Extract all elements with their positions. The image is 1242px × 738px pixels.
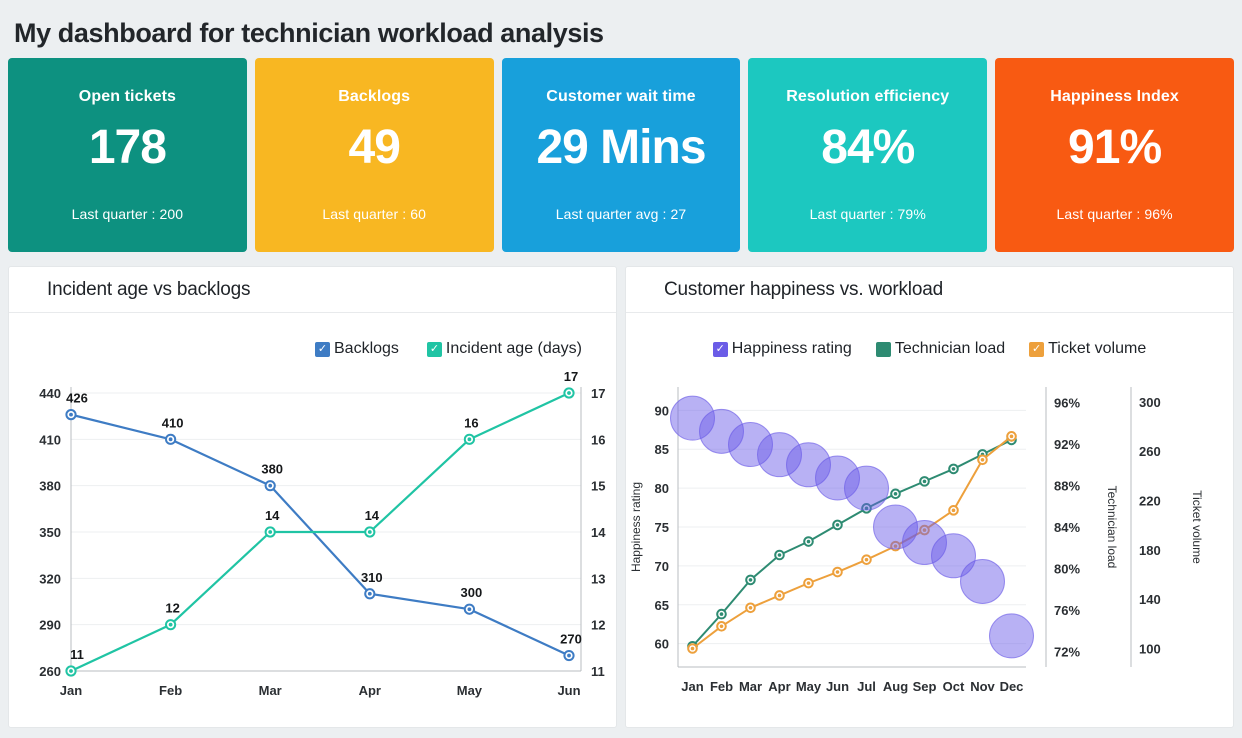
svg-text:14: 14 bbox=[365, 508, 380, 523]
svg-text:76%: 76% bbox=[1054, 603, 1080, 618]
svg-text:16: 16 bbox=[464, 415, 478, 430]
legend-item-backlogs[interactable]: ✓ Backlogs bbox=[315, 340, 399, 358]
kpi-label: Happiness Index bbox=[1050, 88, 1179, 106]
checkbox-icon[interactable]: ✓ bbox=[713, 342, 728, 357]
svg-text:Jun: Jun bbox=[826, 679, 849, 694]
svg-text:Apr: Apr bbox=[359, 683, 381, 698]
svg-text:Nov: Nov bbox=[970, 679, 995, 694]
panel-header-left: Incident age vs backlogs bbox=[9, 267, 616, 313]
legend-left: ✓ Backlogs ✓ Incident age (days) bbox=[9, 327, 616, 371]
panel-header-right: Customer happiness vs. workload bbox=[626, 267, 1233, 313]
plot-area-left: 26029032035038041044011121314151617JanFe… bbox=[9, 371, 616, 727]
kpi-subtext: Last quarter : 200 bbox=[72, 206, 184, 222]
svg-text:Mar: Mar bbox=[259, 683, 282, 698]
svg-text:220: 220 bbox=[1139, 493, 1161, 508]
svg-text:426: 426 bbox=[66, 391, 88, 406]
svg-text:300: 300 bbox=[461, 585, 483, 600]
kpi-card-resolution-efficiency[interactable]: Resolution efficiency 84% Last quarter :… bbox=[748, 58, 987, 252]
kpi-value: 49 bbox=[349, 124, 400, 172]
svg-text:Oct: Oct bbox=[943, 679, 965, 694]
legend-item-ticket-volume[interactable]: ✓ Ticket volume bbox=[1029, 340, 1146, 358]
svg-text:380: 380 bbox=[39, 479, 61, 494]
svg-text:380: 380 bbox=[261, 462, 283, 477]
svg-text:Jun: Jun bbox=[557, 683, 580, 698]
svg-text:13: 13 bbox=[591, 571, 605, 586]
dashboard-page: My dashboard for technician workload ana… bbox=[0, 0, 1242, 738]
svg-text:65: 65 bbox=[655, 598, 669, 613]
kpi-label: Resolution efficiency bbox=[786, 88, 949, 106]
svg-text:90: 90 bbox=[655, 403, 669, 418]
svg-text:70: 70 bbox=[655, 559, 669, 574]
kpi-subtext: Last quarter : 60 bbox=[322, 206, 426, 222]
svg-text:Mar: Mar bbox=[739, 679, 762, 694]
svg-text:100: 100 bbox=[1139, 641, 1161, 656]
checkbox-icon[interactable]: ✓ bbox=[427, 342, 442, 357]
svg-text:Dec: Dec bbox=[1000, 679, 1024, 694]
legend-label: Ticket volume bbox=[1048, 340, 1146, 358]
svg-text:92%: 92% bbox=[1054, 437, 1080, 452]
svg-text:410: 410 bbox=[162, 415, 184, 430]
kpi-card-open-tickets[interactable]: Open tickets 178 Last quarter : 200 bbox=[8, 58, 247, 252]
legend-item-happiness-rating[interactable]: ✓ Happiness rating bbox=[713, 340, 852, 358]
svg-text:12: 12 bbox=[165, 601, 179, 616]
svg-text:320: 320 bbox=[39, 571, 61, 586]
legend-label: Incident age (days) bbox=[446, 340, 582, 358]
checkbox-icon[interactable]: ✓ bbox=[315, 342, 330, 357]
svg-text:17: 17 bbox=[591, 386, 605, 401]
svg-text:Aug: Aug bbox=[883, 679, 908, 694]
svg-text:Technician load: Technician load bbox=[1105, 486, 1119, 569]
panel-title-right: Customer happiness vs. workload bbox=[664, 279, 943, 301]
kpi-value: 178 bbox=[89, 124, 166, 172]
svg-text:80%: 80% bbox=[1054, 561, 1080, 576]
legend-item-incident-age[interactable]: ✓ Incident age (days) bbox=[427, 340, 582, 358]
page-title: My dashboard for technician workload ana… bbox=[8, 8, 1234, 54]
svg-text:11: 11 bbox=[70, 647, 84, 662]
panel-title-left: Incident age vs backlogs bbox=[47, 279, 250, 301]
legend-label: Backlogs bbox=[334, 340, 399, 358]
kpi-value: 91% bbox=[1068, 124, 1161, 172]
legend-right: ✓ Happiness rating Technician load ✓ Tic… bbox=[626, 327, 1233, 371]
svg-text:Jan: Jan bbox=[681, 679, 703, 694]
svg-text:84%: 84% bbox=[1054, 520, 1080, 535]
kpi-card-backlogs[interactable]: Backlogs 49 Last quarter : 60 bbox=[255, 58, 494, 252]
svg-text:Ticket volume: Ticket volume bbox=[1190, 490, 1204, 564]
legend-label: Technician load bbox=[895, 340, 1005, 358]
kpi-card-customer-wait-time[interactable]: Customer wait time 29 Mins Last quarter … bbox=[502, 58, 741, 252]
kpi-subtext: Last quarter : 96% bbox=[1056, 206, 1172, 222]
svg-text:16: 16 bbox=[591, 432, 605, 447]
svg-text:75: 75 bbox=[655, 520, 669, 535]
svg-text:Sep: Sep bbox=[913, 679, 937, 694]
checkbox-icon[interactable]: ✓ bbox=[1029, 342, 1044, 357]
svg-text:270: 270 bbox=[560, 632, 582, 647]
svg-text:140: 140 bbox=[1139, 592, 1161, 607]
svg-text:Happiness rating: Happiness rating bbox=[629, 482, 643, 572]
kpi-subtext: Last quarter avg : 27 bbox=[556, 206, 687, 222]
chart-left[interactable]: 26029032035038041044011121314151617JanFe… bbox=[9, 371, 617, 727]
svg-text:440: 440 bbox=[39, 386, 61, 401]
legend-label: Happiness rating bbox=[732, 340, 852, 358]
svg-text:May: May bbox=[457, 683, 483, 698]
kpi-card-happiness-index[interactable]: Happiness Index 91% Last quarter : 96% bbox=[995, 58, 1234, 252]
svg-text:88%: 88% bbox=[1054, 479, 1080, 494]
plot-area-right: 6065707580859072%76%80%84%88%92%96%Techn… bbox=[626, 371, 1233, 727]
svg-text:72%: 72% bbox=[1054, 644, 1080, 659]
panel-customer-happiness-vs-workload: Customer happiness vs. workload ✓ Happin… bbox=[625, 266, 1234, 728]
kpi-label: Backlogs bbox=[338, 88, 410, 106]
svg-text:15: 15 bbox=[591, 479, 605, 494]
svg-text:Jan: Jan bbox=[60, 683, 82, 698]
svg-text:350: 350 bbox=[39, 525, 61, 540]
legend-item-technician-load[interactable]: Technician load bbox=[876, 340, 1005, 358]
svg-text:60: 60 bbox=[655, 637, 669, 652]
kpi-label: Customer wait time bbox=[546, 88, 695, 106]
panel-incident-age-vs-backlogs: Incident age vs backlogs ✓ Backlogs ✓ In… bbox=[8, 266, 617, 728]
svg-text:May: May bbox=[796, 679, 822, 694]
checkbox-icon[interactable] bbox=[876, 342, 891, 357]
kpi-card-row: Open tickets 178 Last quarter : 200 Back… bbox=[8, 58, 1234, 252]
svg-text:Feb: Feb bbox=[710, 679, 733, 694]
svg-text:Feb: Feb bbox=[159, 683, 182, 698]
kpi-subtext: Last quarter : 79% bbox=[810, 206, 926, 222]
svg-text:310: 310 bbox=[361, 570, 383, 585]
svg-text:260: 260 bbox=[39, 664, 61, 679]
svg-text:180: 180 bbox=[1139, 543, 1161, 558]
svg-text:12: 12 bbox=[591, 618, 605, 633]
svg-text:14: 14 bbox=[265, 508, 280, 523]
svg-text:290: 290 bbox=[39, 618, 61, 633]
kpi-label: Open tickets bbox=[79, 88, 176, 106]
svg-text:14: 14 bbox=[591, 525, 606, 540]
svg-text:260: 260 bbox=[1139, 444, 1161, 459]
chart-right[interactable]: 6065707580859072%76%80%84%88%92%96%Techn… bbox=[626, 371, 1234, 727]
svg-text:85: 85 bbox=[655, 442, 669, 457]
svg-text:96%: 96% bbox=[1054, 396, 1080, 411]
kpi-value: 29 Mins bbox=[536, 124, 705, 172]
svg-text:17: 17 bbox=[564, 371, 578, 384]
svg-text:300: 300 bbox=[1139, 395, 1161, 410]
svg-text:11: 11 bbox=[591, 664, 605, 679]
kpi-value: 84% bbox=[821, 124, 914, 172]
svg-text:Apr: Apr bbox=[768, 679, 790, 694]
svg-text:80: 80 bbox=[655, 481, 669, 496]
svg-text:410: 410 bbox=[39, 432, 61, 447]
chart-panel-row: Incident age vs backlogs ✓ Backlogs ✓ In… bbox=[8, 266, 1234, 728]
svg-text:Jul: Jul bbox=[857, 679, 876, 694]
